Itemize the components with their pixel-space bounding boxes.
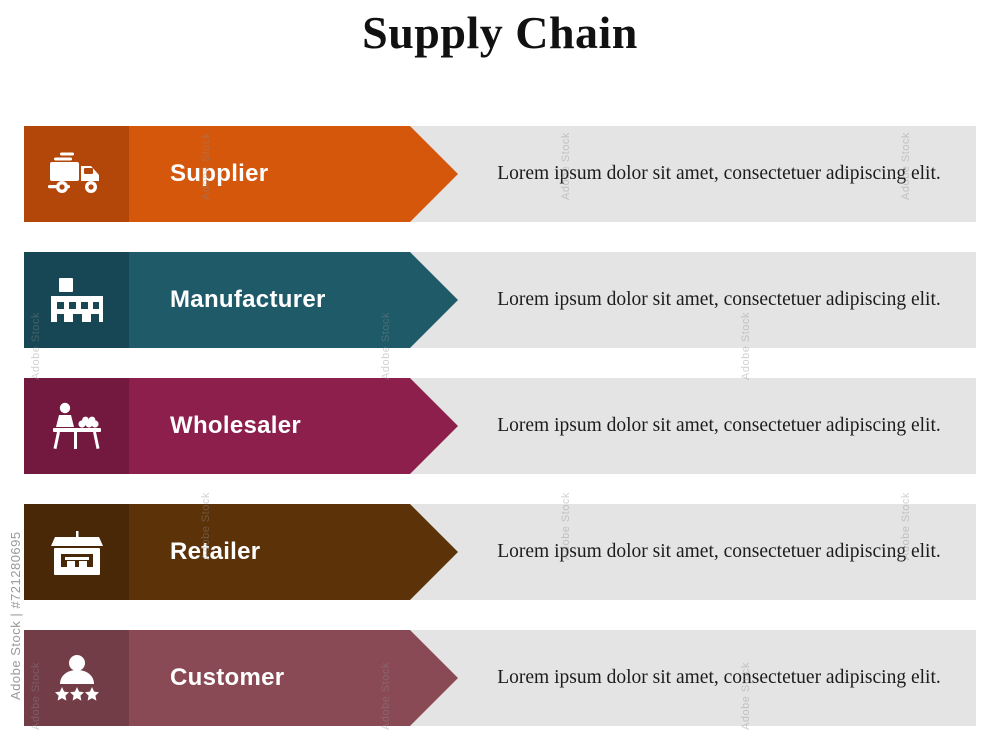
row-arrow: Retailer — [24, 504, 458, 600]
customer-rating-icon — [50, 654, 104, 702]
row-arrow: Supplier — [24, 126, 458, 222]
row-arrow: Manufacturer — [24, 252, 458, 348]
row-label: Manufacturer — [170, 252, 326, 348]
arrow-head — [410, 630, 458, 726]
infographic-canvas: Supply Chain — [0, 0, 1000, 750]
storefront-icon — [49, 527, 105, 577]
row-label: Supplier — [170, 126, 268, 222]
market-vendor-icon — [49, 401, 105, 451]
row-label: Customer — [170, 630, 284, 726]
row-label: Retailer — [170, 504, 260, 600]
row-description: Lorem ipsum dolor sit amet, consectetuer… — [484, 504, 954, 600]
delivery-truck-icon — [48, 152, 106, 196]
icon-box — [24, 504, 129, 600]
row-description: Lorem ipsum dolor sit amet, consectetuer… — [484, 252, 954, 348]
watermark-id: Adobe Stock | #721280695 — [8, 531, 23, 700]
icon-box — [24, 630, 129, 726]
row-arrow: Customer — [24, 630, 458, 726]
page-title: Supply Chain — [0, 6, 1000, 59]
row-arrow: Wholesaler — [24, 378, 458, 474]
arrow-head — [410, 126, 458, 222]
supply-chain-row: Retailer Lorem ipsum dolor sit amet, con… — [24, 504, 976, 600]
arrow-head — [410, 504, 458, 600]
supply-chain-row: Supplier Lorem ipsum dolor sit amet, con… — [24, 126, 976, 222]
arrow-head — [410, 252, 458, 348]
icon-box — [24, 252, 129, 348]
row-description: Lorem ipsum dolor sit amet, consectetuer… — [484, 630, 954, 726]
supply-chain-row: Wholesaler Lorem ipsum dolor sit amet, c… — [24, 378, 976, 474]
icon-box — [24, 378, 129, 474]
row-label: Wholesaler — [170, 378, 301, 474]
supply-chain-row: Manufacturer Lorem ipsum dolor sit amet,… — [24, 252, 976, 348]
row-description: Lorem ipsum dolor sit amet, consectetuer… — [484, 126, 954, 222]
arrow-head — [410, 378, 458, 474]
factory-icon — [49, 276, 105, 324]
row-description: Lorem ipsum dolor sit amet, consectetuer… — [484, 378, 954, 474]
supply-chain-row: Customer Lorem ipsum dolor sit amet, con… — [24, 630, 976, 726]
icon-box — [24, 126, 129, 222]
